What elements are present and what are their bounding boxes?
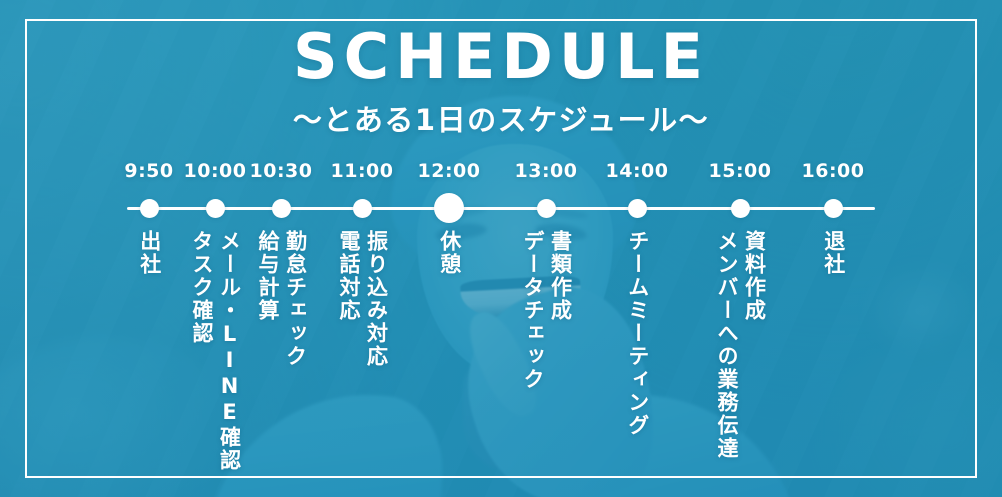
timeline-task-label: 出社 <box>135 230 163 276</box>
timeline-dot-icon[interactable] <box>206 199 225 218</box>
timeline-dot-icon[interactable] <box>731 199 750 218</box>
timeline-task-labels: 休憩 <box>435 230 463 276</box>
timeline-task-labels: 振り込み対応電話対応 <box>334 230 389 368</box>
timeline-dot-icon[interactable] <box>140 199 159 218</box>
timeline-dot-icon[interactable] <box>353 199 372 218</box>
timeline-task-labels: メール・LINE確認タスク確認 <box>187 230 242 472</box>
timeline-task-label: タスク確認 <box>187 230 215 345</box>
timeline-task-label: 資料作成 <box>740 230 768 322</box>
timeline-task-label: 給与計算 <box>253 230 281 322</box>
timeline-task-label: 勤怠チェック <box>281 230 309 368</box>
timeline-dot-icon[interactable] <box>272 199 291 218</box>
timeline-task-label: データチェック <box>518 230 546 391</box>
page-header: SCHEDULE 〜とある1日のスケジュール〜 <box>0 26 1002 135</box>
timeline-task-label: 書類作成 <box>546 230 574 322</box>
timeline-task-label: メンバーへの業務伝達 <box>712 230 740 460</box>
timeline-task-labels: 資料作成メンバーへの業務伝達 <box>712 230 767 460</box>
timeline-task-label: メール・LINE確認 <box>215 230 243 472</box>
timeline-task-label: 電話対応 <box>334 230 362 322</box>
timeline-dot-icon[interactable] <box>824 199 843 218</box>
timeline-axis-line <box>127 207 875 210</box>
timeline-task-label: 振り込み対応 <box>362 230 390 368</box>
page-title: SCHEDULE <box>0 26 1002 88</box>
timeline-task-label: 休憩 <box>435 230 463 276</box>
timeline-time-label: 11:00 <box>331 160 394 182</box>
timeline-task-label: 退社 <box>819 230 847 276</box>
timeline-task-labels: 勤怠チェック給与計算 <box>253 230 308 368</box>
timeline-task-labels: 出社 <box>135 230 163 276</box>
timeline-time-label: 16:00 <box>802 160 865 182</box>
timeline-time-label: 14:00 <box>606 160 669 182</box>
schedule-infographic: SCHEDULE 〜とある1日のスケジュール〜 9:50出社10:00メール・L… <box>0 0 1002 497</box>
timeline-task-labels: チームミーティング <box>623 230 651 437</box>
timeline-task-labels: 退社 <box>819 230 847 276</box>
timeline-time-label: 12:00 <box>418 160 481 182</box>
timeline-dot-icon[interactable] <box>537 199 556 218</box>
timeline-time-label: 9:50 <box>124 160 173 182</box>
timeline: 9:50出社10:00メール・LINE確認タスク確認10:30勤怠チェック給与計… <box>0 160 1002 480</box>
timeline-dot-icon[interactable] <box>628 199 647 218</box>
timeline-time-label: 13:00 <box>515 160 578 182</box>
timeline-task-labels: 書類作成データチェック <box>518 230 573 391</box>
page-subtitle: 〜とある1日のスケジュール〜 <box>0 106 1002 135</box>
timeline-time-label: 10:30 <box>250 160 313 182</box>
timeline-dot-icon[interactable] <box>434 193 464 223</box>
timeline-time-label: 10:00 <box>184 160 247 182</box>
timeline-time-label: 15:00 <box>709 160 772 182</box>
timeline-task-label: チームミーティング <box>623 230 651 437</box>
